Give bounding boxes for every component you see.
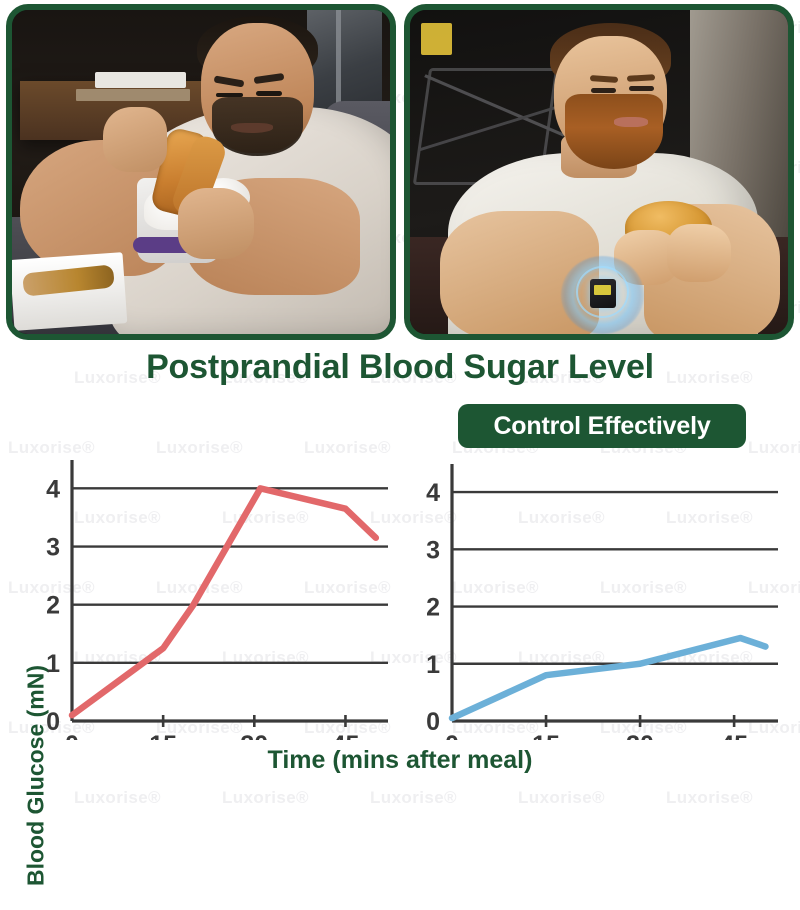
page-title: Postprandial Blood Sugar Level xyxy=(0,348,800,387)
x-tick-label: 0 xyxy=(65,731,79,740)
photo-row xyxy=(0,0,800,340)
y-tick-label: 3 xyxy=(46,534,60,562)
y-tick-label: 0 xyxy=(426,708,440,736)
data-series-line xyxy=(72,488,376,715)
glucose-monitor-device-icon xyxy=(590,279,616,308)
poster-root: Luxorise®Luxorise®Luxorise®Luxorise®Luxo… xyxy=(0,0,800,800)
data-series-line xyxy=(452,638,765,718)
photo-bearded-man-with-burger xyxy=(404,4,794,340)
y-tick-label: 0 xyxy=(46,708,60,736)
x-axis-label: Time (mins after meal) xyxy=(0,746,800,775)
chart-after-control: 015304501234 xyxy=(400,440,800,740)
y-tick-label: 4 xyxy=(426,479,440,507)
y-tick-label: 3 xyxy=(426,536,440,564)
y-tick-label: 1 xyxy=(426,651,440,679)
x-tick-label: 30 xyxy=(240,731,268,740)
y-tick-label: 2 xyxy=(426,594,440,622)
charts-area: Blood Glucose (mN) 015304501234 01530450… xyxy=(0,440,800,800)
y-tick-label: 4 xyxy=(46,475,60,503)
x-tick-label: 45 xyxy=(720,731,748,740)
chart-before-control: 015304501234 xyxy=(0,440,400,740)
y-tick-label: 1 xyxy=(46,650,60,678)
photo-man-eating-churros xyxy=(6,4,396,340)
x-tick-label: 45 xyxy=(332,731,360,740)
y-tick-label: 2 xyxy=(46,592,60,620)
x-tick-label: 0 xyxy=(445,731,459,740)
x-tick-label: 30 xyxy=(626,731,654,740)
x-tick-label: 15 xyxy=(532,731,560,740)
x-tick-label: 15 xyxy=(149,731,177,740)
